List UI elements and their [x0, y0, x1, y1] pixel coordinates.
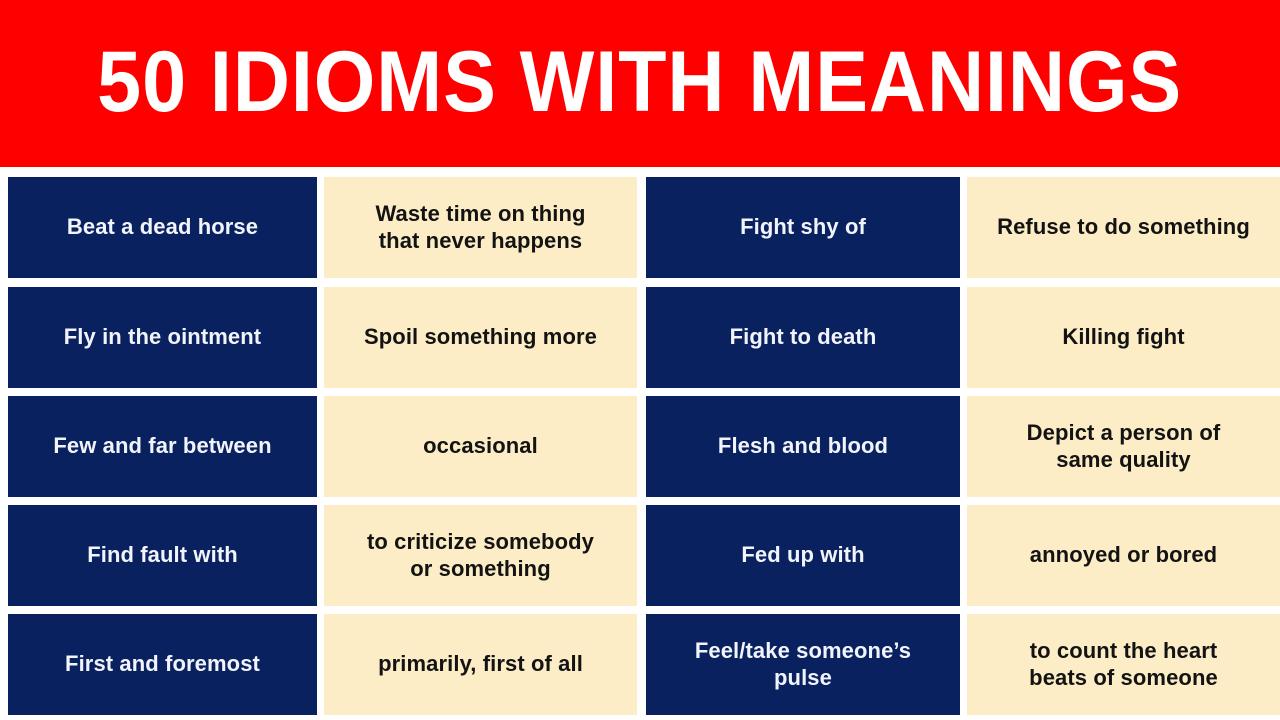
idiom-cell: Fly in the ointment: [8, 287, 317, 388]
idiom-text: Find fault with: [81, 542, 244, 569]
idiom-cell: Fight to death: [646, 287, 960, 388]
meaning-text: Depict a person of same quality: [1025, 420, 1223, 474]
table-row: Few and far between occasional Flesh and…: [0, 396, 1280, 497]
meaning-text: to count the heart beats of someone: [1027, 638, 1220, 692]
meaning-text: primarily, first of all: [372, 651, 589, 678]
idiom-text: Fly in the ointment: [58, 324, 267, 351]
meaning-cell: to count the heart beats of someone: [967, 614, 1280, 715]
page-title: 50 IDIOMS WITH MEANINGS: [98, 39, 1183, 129]
table-row: Fly in the ointment Spoil something more…: [0, 287, 1280, 388]
idiom-cell: Find fault with: [8, 505, 317, 606]
meaning-text: Killing fight: [1060, 324, 1186, 351]
idiom-cell: First and foremost: [8, 614, 317, 715]
idiom-cell: Few and far between: [8, 396, 317, 497]
idiom-text: Fight shy of: [734, 214, 872, 241]
table-row: Beat a dead horse Waste time on thing th…: [0, 177, 1280, 278]
idiom-text: Feel/take someone’s pulse: [689, 638, 917, 692]
table-row: First and foremost primarily, first of a…: [0, 614, 1280, 715]
meaning-text: to criticize somebody or something: [361, 529, 600, 583]
idiom-cell: Beat a dead horse: [8, 177, 317, 278]
idiom-cell: Fight shy of: [646, 177, 960, 278]
idiom-text: Fight to death: [724, 324, 883, 351]
idiom-cell: Flesh and blood: [646, 396, 960, 497]
meaning-cell: to criticize somebody or something: [324, 505, 637, 606]
meaning-text: Refuse to do something: [995, 214, 1252, 241]
idioms-table: Beat a dead horse Waste time on thing th…: [0, 177, 1280, 720]
meaning-text: occasional: [417, 433, 544, 460]
idiom-text: Beat a dead horse: [61, 214, 264, 241]
idiom-cell: Feel/take someone’s pulse: [646, 614, 960, 715]
idiom-text: First and foremost: [59, 651, 266, 678]
idiom-text: Few and far between: [47, 433, 277, 460]
meaning-text: Waste time on thing that never happens: [369, 201, 591, 255]
meaning-cell: Depict a person of same quality: [967, 396, 1280, 497]
meaning-cell: Killing fight: [967, 287, 1280, 388]
meaning-cell: Waste time on thing that never happens: [324, 177, 637, 278]
idiom-cell: Fed up with: [646, 505, 960, 606]
idioms-poster: 50 IDIOMS WITH MEANINGS Beat a dead hors…: [0, 0, 1280, 720]
meaning-cell: Spoil something more: [324, 287, 637, 388]
idiom-text: Flesh and blood: [712, 433, 894, 460]
meaning-text: Spoil something more: [358, 324, 603, 351]
header-banner: 50 IDIOMS WITH MEANINGS: [0, 0, 1280, 167]
meaning-cell: annoyed or bored: [967, 505, 1280, 606]
meaning-cell: primarily, first of all: [324, 614, 637, 715]
table-row: Find fault with to criticize somebody or…: [0, 505, 1280, 606]
meaning-text: annoyed or bored: [1028, 542, 1219, 569]
meaning-cell: occasional: [324, 396, 637, 497]
idiom-text: Fed up with: [735, 542, 870, 569]
meaning-cell: Refuse to do something: [967, 177, 1280, 278]
